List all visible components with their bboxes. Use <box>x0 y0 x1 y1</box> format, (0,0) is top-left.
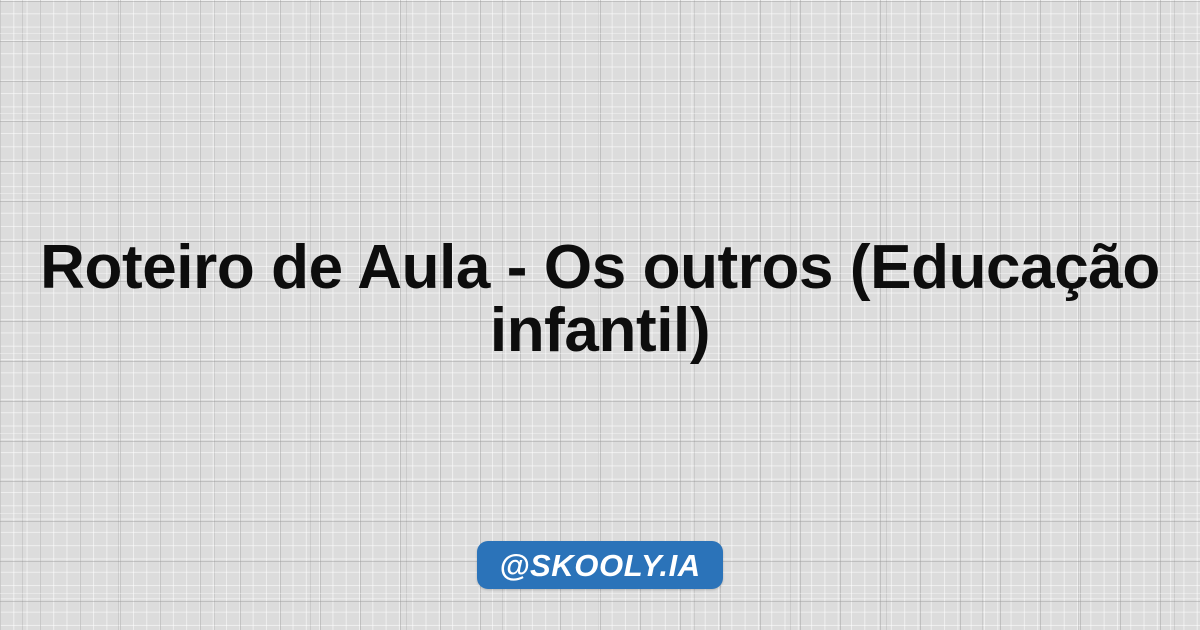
card-content: Roteiro de Aula - Os outros (Educação in… <box>0 0 1200 630</box>
badge-container: @SKOOLY.IA <box>0 541 1200 589</box>
page-title: Roteiro de Aula - Os outros (Educação in… <box>0 236 1200 362</box>
brand-handle-badge[interactable]: @SKOOLY.IA <box>477 541 723 589</box>
title-card: Roteiro de Aula - Os outros (Educação in… <box>0 0 1200 630</box>
